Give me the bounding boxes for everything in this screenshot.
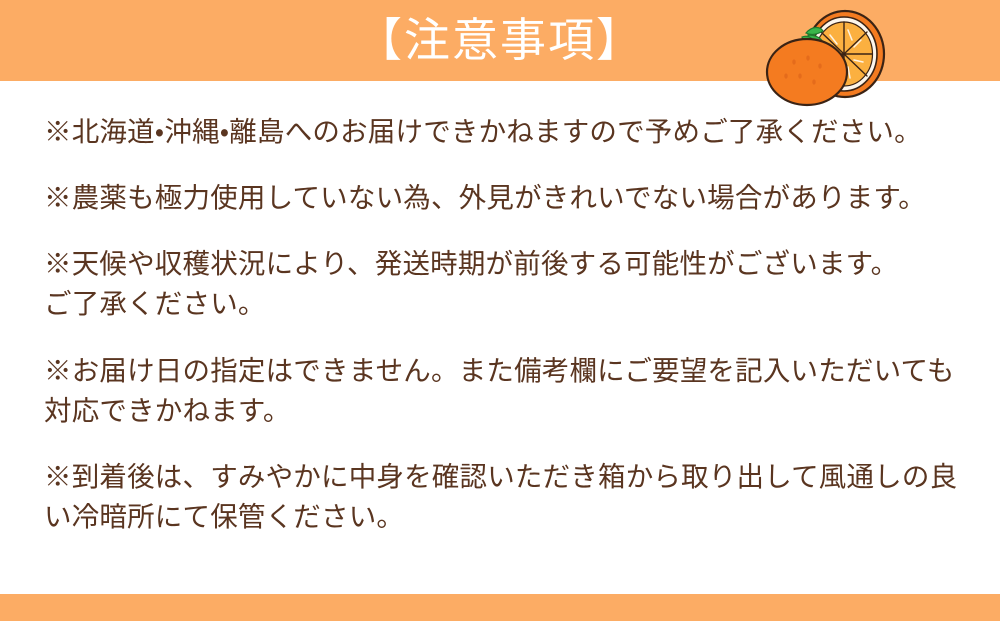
notice-item-delivery-date: ※お届け日の指定はできません。また備考欄にご要望を記入いただいても対応できかねま… (44, 351, 964, 431)
notice-item-storage: ※到着後は、すみやかに中身を確認いただき箱から取り出して風通しの良い冷暗所にて保… (44, 457, 964, 537)
page-title: 【注意事項】 (0, 0, 1000, 81)
notice-item-pesticide-appearance: ※農薬も極力使用していない為、外見がきれいでない場合があります。 (44, 178, 964, 218)
notice-item-shipping-area: ※北海道・沖縄・離島へのお届けできかねますので予めご了承ください。 (44, 112, 964, 152)
notice-list: ※北海道・沖縄・離島へのお届けできかねますので予めご了承ください。 ※農薬も極力… (44, 112, 964, 537)
footer-band (0, 594, 1000, 621)
notice-item-shipping-timing: ※天候や収穫状況により、発送時期が前後する可能性がございます。 ご了承ください。 (44, 244, 964, 324)
notice-page: 【注意事項】 (0, 0, 1000, 621)
